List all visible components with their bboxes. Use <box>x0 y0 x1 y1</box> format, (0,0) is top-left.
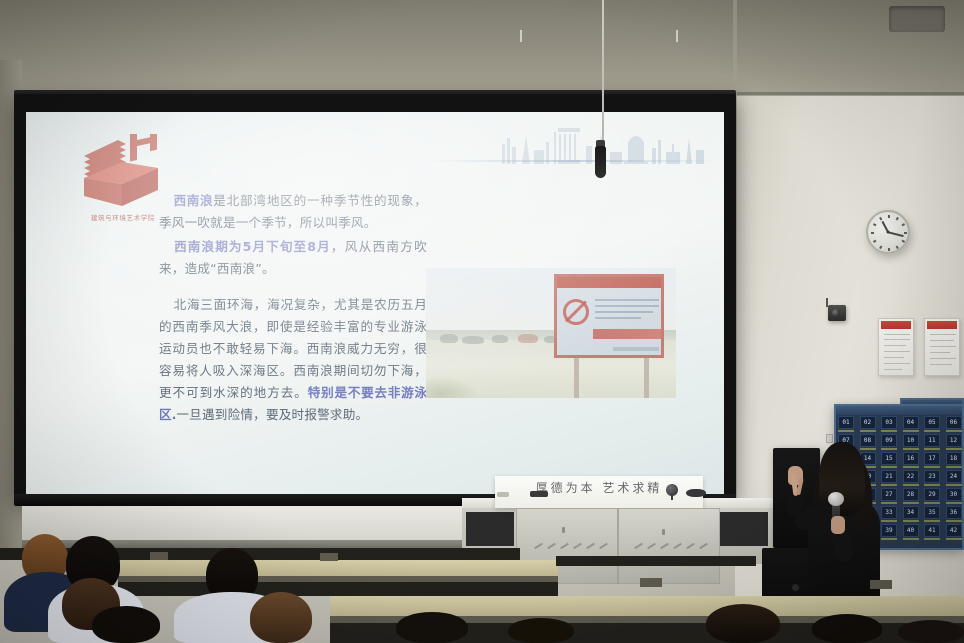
sign-text-line <box>595 305 659 307</box>
sign-footer-text <box>613 347 659 351</box>
audience-head <box>250 592 312 643</box>
notice-board-1 <box>878 318 914 376</box>
slide-text-3b: 一旦遇到险情，要及时报警求助。 <box>176 407 368 422</box>
locker-slot-divider <box>924 448 940 450</box>
locker-slot[interactable]: 42 <box>946 524 962 537</box>
locker-slot-divider <box>881 430 897 432</box>
locker-slot-divider <box>924 502 940 504</box>
notice-board-2 <box>924 318 960 376</box>
locker-slot[interactable]: 22 <box>903 470 919 483</box>
locker-slot-divider <box>838 430 854 432</box>
photo-grass <box>426 376 478 398</box>
locker-slot-divider <box>946 466 962 468</box>
locker-slot-divider <box>903 502 919 504</box>
counter-right-opening <box>720 512 768 546</box>
clock-center <box>887 231 890 234</box>
slide-divider <box>426 160 718 162</box>
wall-camera-icon <box>828 305 846 321</box>
locker-slot-divider <box>903 430 919 432</box>
locker-slot[interactable]: 35 <box>924 506 940 519</box>
locker-slot[interactable]: 28 <box>903 488 919 501</box>
locker-slot-divider <box>924 538 940 540</box>
locker-slot-divider <box>946 430 962 432</box>
presenter-hand-gesture <box>788 466 803 485</box>
sign-text-line <box>595 317 641 319</box>
slide-highlight-1: 西南浪 <box>173 193 213 208</box>
photo-rock <box>440 334 458 343</box>
locker-slot[interactable]: 23 <box>924 470 940 483</box>
locker-slot-divider <box>946 502 962 504</box>
photo-rock <box>492 335 508 343</box>
locker-slot-divider <box>924 430 940 432</box>
sign-post-right <box>644 356 649 398</box>
locker-slot[interactable]: 06 <box>946 416 962 429</box>
wall-clock <box>866 210 910 254</box>
sign-warning-text <box>593 329 661 339</box>
locker-slot[interactable]: 36 <box>946 506 962 519</box>
seat-shadow-1 <box>118 582 558 596</box>
locker-slot-divider <box>946 484 962 486</box>
banner-fold <box>520 30 522 42</box>
locker-slot[interactable]: 01 <box>838 416 854 429</box>
podium-lock-left[interactable] <box>562 527 565 533</box>
locker-slot[interactable]: 03 <box>881 416 897 429</box>
sign-text-line <box>595 299 659 301</box>
locker-slot[interactable]: 05 <box>924 416 940 429</box>
locker-slot-divider <box>903 520 919 522</box>
cord-handle[interactable] <box>595 146 606 178</box>
slide-paragraph-1: 西南浪是北部湾地区的一种季节性的现象，季风一吹就是一个季节，所以叫季风。 <box>159 190 427 234</box>
slide-highlight-2: 西南浪期为5月下旬至8月 <box>173 239 331 254</box>
sign-header-bar <box>557 277 661 288</box>
locker-slot-divider <box>924 520 940 522</box>
audience-head <box>92 606 160 643</box>
audience-head <box>508 618 574 643</box>
slide-paragraph-2: 西南浪期为5月下旬至8月，风从西南方吹来，造成“西南浪”。 <box>159 236 427 280</box>
presenter-hand-holding-mic <box>831 516 845 534</box>
ceiling <box>0 0 964 96</box>
sign-text-line <box>595 311 653 313</box>
desk-remote[interactable] <box>530 491 548 497</box>
audience-head <box>706 604 780 643</box>
locker-slot[interactable]: 34 <box>903 506 919 519</box>
locker-slot-divider <box>924 466 940 468</box>
locker-slot-divider <box>903 448 919 450</box>
locker-slot-divider <box>903 484 919 486</box>
locker-slot[interactable]: 29 <box>924 488 940 501</box>
warning-signboard <box>554 274 664 358</box>
presentation-slide: 建筑与环境艺术学院 西南浪是北部湾地区的一种季节性的现象，季风一吹就是一个季节，… <box>26 112 724 494</box>
locker-slot-divider <box>903 538 919 540</box>
locker-slot-divider <box>946 520 962 522</box>
locker-slot[interactable]: 11 <box>924 434 940 447</box>
banner-fold <box>676 30 678 42</box>
locker-slot-divider <box>946 538 962 540</box>
locker-slot[interactable]: 10 <box>903 434 919 447</box>
locker-slot[interactable]: 02 <box>860 416 876 429</box>
locker-slot[interactable]: 40 <box>903 524 919 537</box>
podium-lock-right[interactable] <box>662 529 665 535</box>
photo-boat <box>518 334 538 343</box>
camera-lens-icon <box>832 309 840 317</box>
photo-rock <box>462 336 484 344</box>
podium-door-split <box>617 508 619 584</box>
desk-paper <box>497 492 509 497</box>
desk-mic-stem <box>671 494 673 500</box>
notice-header <box>881 321 911 329</box>
seat-row-edge-right <box>556 556 756 566</box>
locker-slot[interactable]: 30 <box>946 488 962 501</box>
beach-warning-sign-photo <box>426 268 676 398</box>
locker-slot[interactable]: 04 <box>903 416 919 429</box>
screen-pull-cord[interactable] <box>602 0 604 152</box>
clock-minute-hand <box>888 231 904 236</box>
sign-post-left <box>574 356 579 398</box>
locker-slot[interactable]: 17 <box>924 452 940 465</box>
slide-body-text: 西南浪是北部湾地区的一种季节性的现象，季风一吹就是一个季节，所以叫季风。 西南浪… <box>159 190 427 428</box>
locker-header <box>836 406 962 415</box>
locker-slot[interactable]: 12 <box>946 434 962 447</box>
locker-slot[interactable]: 16 <box>903 452 919 465</box>
locker-slot-divider <box>924 484 940 486</box>
counter-left-opening <box>466 512 514 546</box>
locker-slot[interactable]: 41 <box>924 524 940 537</box>
audience-head <box>812 614 882 643</box>
audience-head <box>898 620 964 643</box>
locker-slot-divider <box>903 466 919 468</box>
slide-paragraph-3: 北海三面环海，海况复杂，尤其是农历五月的西南季风大浪，即使是经验丰富的专业游泳运… <box>159 294 427 426</box>
lecture-hall-photo: 建筑与环境艺术学院 西南浪是北部湾地区的一种季节性的现象，季风一吹就是一个季节，… <box>0 0 964 643</box>
locker-slot[interactable]: 18 <box>946 452 962 465</box>
microphone-head-icon <box>828 492 844 506</box>
locker-slot[interactable]: 24 <box>946 470 962 483</box>
notice-header <box>927 321 957 329</box>
locker-slot-divider <box>860 430 876 432</box>
locker-slot-divider <box>946 448 962 450</box>
audience-head <box>396 612 468 643</box>
desk-mouse-icon[interactable] <box>686 489 706 497</box>
ceiling-vent <box>889 6 945 32</box>
